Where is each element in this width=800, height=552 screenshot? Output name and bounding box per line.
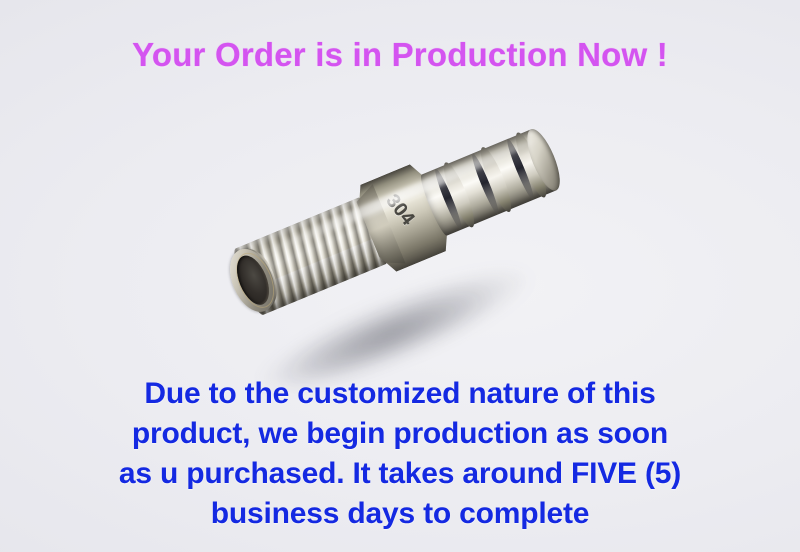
bore-face bbox=[221, 242, 283, 318]
barb-ridge bbox=[511, 130, 552, 200]
notice-line-2: product, we begin production as soon bbox=[0, 414, 800, 454]
hex-body bbox=[351, 160, 455, 275]
barb-groove bbox=[432, 167, 465, 231]
promo-banner: Your Order is in Production Now ! 304 bbox=[0, 0, 800, 552]
bore-rim bbox=[229, 247, 282, 313]
barb-shank bbox=[417, 127, 561, 237]
barb-ridge bbox=[439, 160, 480, 230]
thread-taper bbox=[230, 243, 285, 313]
page-title: Your Order is in Production Now ! bbox=[0, 36, 800, 74]
bore-opening bbox=[231, 251, 276, 309]
hex-face-shading bbox=[352, 184, 405, 272]
notice-line-3: as u purchased. It takes around FIVE (5) bbox=[0, 454, 800, 494]
specular-highlight bbox=[257, 135, 539, 261]
npt-threaded-section bbox=[229, 195, 391, 317]
hose-barb-fitting: 304 bbox=[219, 107, 573, 333]
material-grade-stamp: 304 bbox=[381, 191, 419, 231]
notice-line-4: business days to complete bbox=[0, 494, 800, 534]
barb-groove bbox=[504, 137, 537, 201]
barb-groove bbox=[469, 152, 502, 216]
production-notice-text: Due to the customized nature of this pro… bbox=[0, 374, 800, 534]
notice-line-1: Due to the customized nature of this bbox=[0, 374, 800, 414]
barb-ridge bbox=[476, 144, 517, 214]
barb-end-cap bbox=[521, 125, 567, 194]
